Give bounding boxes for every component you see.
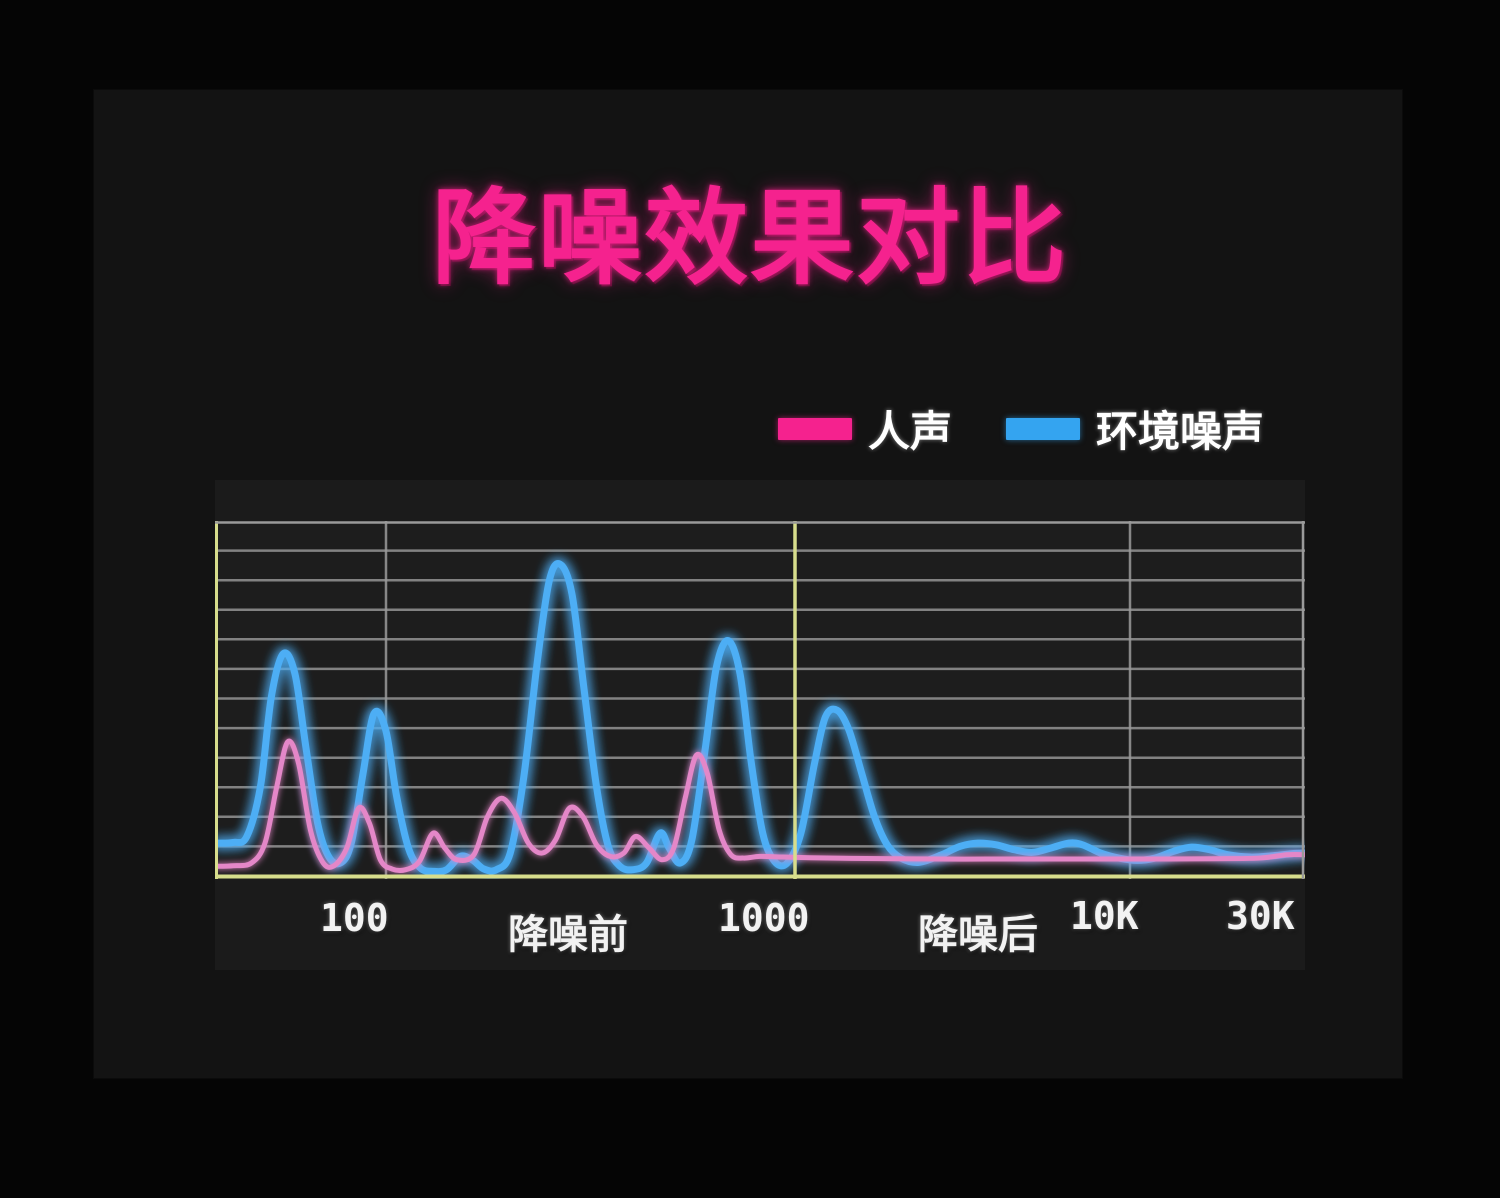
legend-item-voice[interactable]: 人声 bbox=[778, 398, 952, 459]
app-root: 降噪效果对比 人声 环境噪声 bbox=[0, 0, 1500, 1198]
chart-legend: 人声 环境噪声 bbox=[778, 398, 1264, 459]
spectrum-plot[interactable] bbox=[215, 521, 1305, 879]
legend-item-noise[interactable]: 环境噪声 bbox=[1006, 398, 1264, 459]
legend-label-voice: 人声 bbox=[868, 398, 952, 459]
legend-label-noise: 环境噪声 bbox=[1096, 398, 1264, 459]
page-title: 降噪效果对比 bbox=[0, 184, 1500, 293]
line-swatch-icon bbox=[1006, 418, 1080, 440]
line-swatch-icon bbox=[778, 418, 852, 440]
